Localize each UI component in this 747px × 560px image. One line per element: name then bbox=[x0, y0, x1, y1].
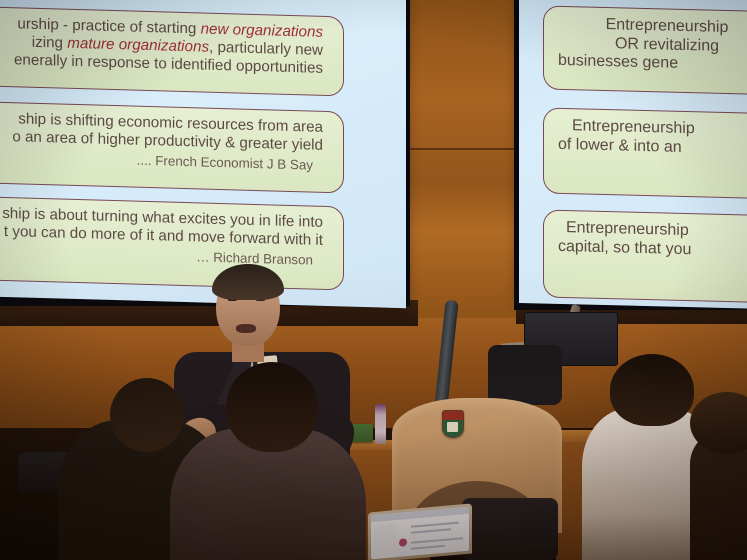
audience-member-right-edge bbox=[690, 430, 747, 560]
left-projection-screen: of Entrepreneurship urship - practice of… bbox=[0, 0, 406, 308]
left-quote-box-1: urship - practice of starting new organi… bbox=[0, 4, 344, 96]
audience-member-grey-jacket bbox=[170, 428, 366, 560]
left-quote-1-line-2-pre: izing bbox=[32, 34, 67, 52]
left-quote-1-line-2-post: , particularly new bbox=[209, 38, 323, 58]
laptop-sidebar bbox=[374, 523, 396, 559]
right-quote-box-2: Entrepreneurship of lower & into an bbox=[543, 108, 747, 201]
laptop-avatar-icon bbox=[399, 538, 407, 547]
laptop-text-line bbox=[411, 522, 459, 528]
presenter-hair bbox=[212, 264, 284, 300]
university-crest-icon bbox=[442, 410, 464, 438]
laptop-lid bbox=[368, 503, 472, 560]
laptop-text-line bbox=[411, 545, 445, 550]
right-quote-box-1: Entrepreneurship OR revitalizing busines… bbox=[543, 6, 747, 97]
audience-head bbox=[226, 362, 318, 452]
presenter-mouth bbox=[236, 324, 256, 333]
seat-back-center bbox=[462, 498, 558, 560]
right-projection-screen: Entrepreneurship OR revitalizing busines… bbox=[519, 0, 747, 309]
laptop-text-line bbox=[411, 537, 463, 544]
right-slide: Entrepreneurship OR revitalizing busines… bbox=[519, 0, 747, 309]
laptop[interactable] bbox=[368, 503, 472, 560]
audience-head bbox=[610, 354, 694, 426]
right-quote-1-line-3: businesses gene bbox=[558, 52, 747, 78]
left-quote-box-2: ship is shifting economic resources from… bbox=[0, 99, 344, 193]
right-quote-2-line-2: of lower & into an bbox=[558, 136, 747, 162]
chair bbox=[488, 345, 562, 405]
right-quote-box-3: Entrepreneurship capital, so that you bbox=[543, 210, 747, 305]
audience-head bbox=[110, 378, 184, 452]
left-slide: of Entrepreneurship urship - practice of… bbox=[0, 0, 406, 308]
laptop-screen[interactable] bbox=[371, 507, 469, 560]
wall-panel-center bbox=[404, 0, 516, 330]
lecture-hall-scene: of Entrepreneurship urship - practice of… bbox=[0, 0, 747, 560]
water-bottle bbox=[375, 404, 386, 444]
laptop-text-line bbox=[411, 528, 451, 533]
audience-head bbox=[690, 392, 747, 454]
right-quote-3-line-2: capital, so that you bbox=[558, 238, 747, 264]
